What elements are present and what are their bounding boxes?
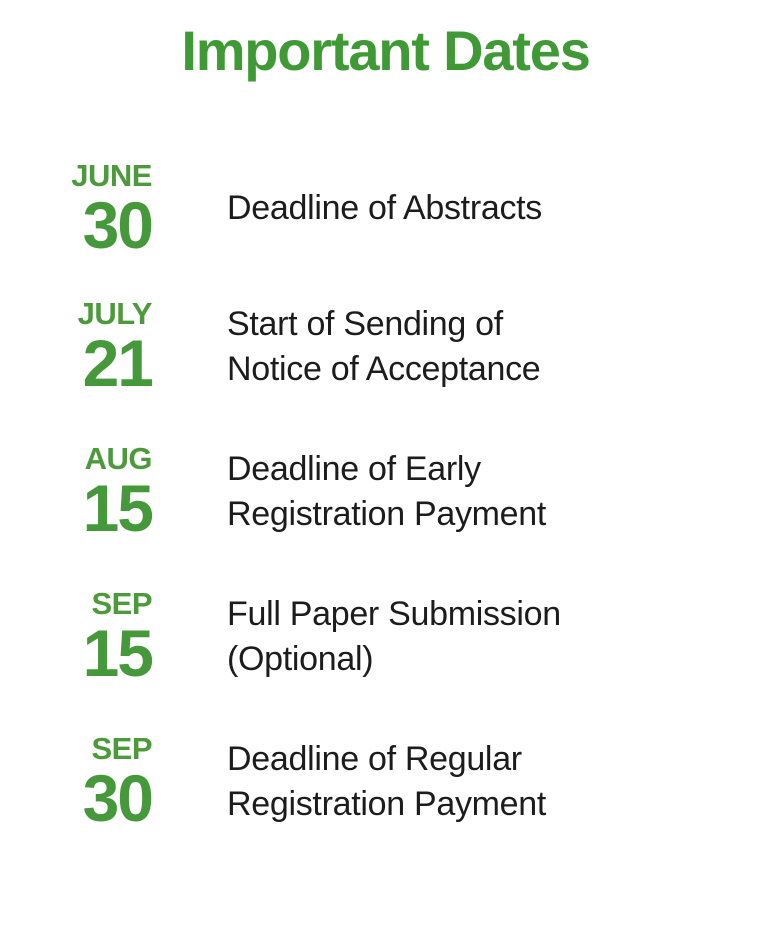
date-month: SEP [30,588,152,619]
schedule-row: AUG 15 Deadline of Early Registration Pa… [0,419,771,564]
date-description: Start of Sending of Notice of Acceptance [152,302,771,392]
page-title: Important Dates [0,16,771,86]
important-dates-poster: Important Dates JUNE 30 Deadline of Abst… [0,0,771,927]
description-line: Deadline of Early [227,447,771,492]
date-month: AUG [30,443,152,474]
date-month: SEP [30,733,152,764]
date-block: SEP 15 [30,588,152,685]
date-day: 21 [30,331,152,395]
date-month: JULY [30,298,152,329]
date-block: JULY 21 [30,298,152,395]
date-block: AUG 15 [30,443,152,540]
schedule-row: SEP 15 Full Paper Submission (Optional) [0,564,771,709]
description-line: Registration Payment [227,492,771,537]
description-line: Registration Payment [227,782,771,827]
date-month: JUNE [30,160,152,191]
description-line: Deadline of Abstracts [227,186,771,231]
schedule-row: JUNE 30 Deadline of Abstracts [0,142,771,274]
description-line: (Optional) [227,637,771,682]
date-day: 30 [30,193,152,257]
date-block: SEP 30 [30,733,152,830]
description-line: Start of Sending of [227,302,771,347]
date-day: 30 [30,766,152,830]
date-day: 15 [30,476,152,540]
description-line: Full Paper Submission [227,592,771,637]
schedule-list: JUNE 30 Deadline of Abstracts JULY 21 St… [0,142,771,854]
date-description: Deadline of Abstracts [152,186,771,231]
date-day: 15 [30,621,152,685]
description-line: Notice of Acceptance [227,347,771,392]
schedule-row: SEP 30 Deadline of Regular Registration … [0,709,771,854]
description-line: Deadline of Regular [227,737,771,782]
date-block: JUNE 30 [30,160,152,257]
date-description: Deadline of Early Registration Payment [152,447,771,537]
date-description: Deadline of Regular Registration Payment [152,737,771,827]
date-description: Full Paper Submission (Optional) [152,592,771,682]
schedule-row: JULY 21 Start of Sending of Notice of Ac… [0,274,771,419]
